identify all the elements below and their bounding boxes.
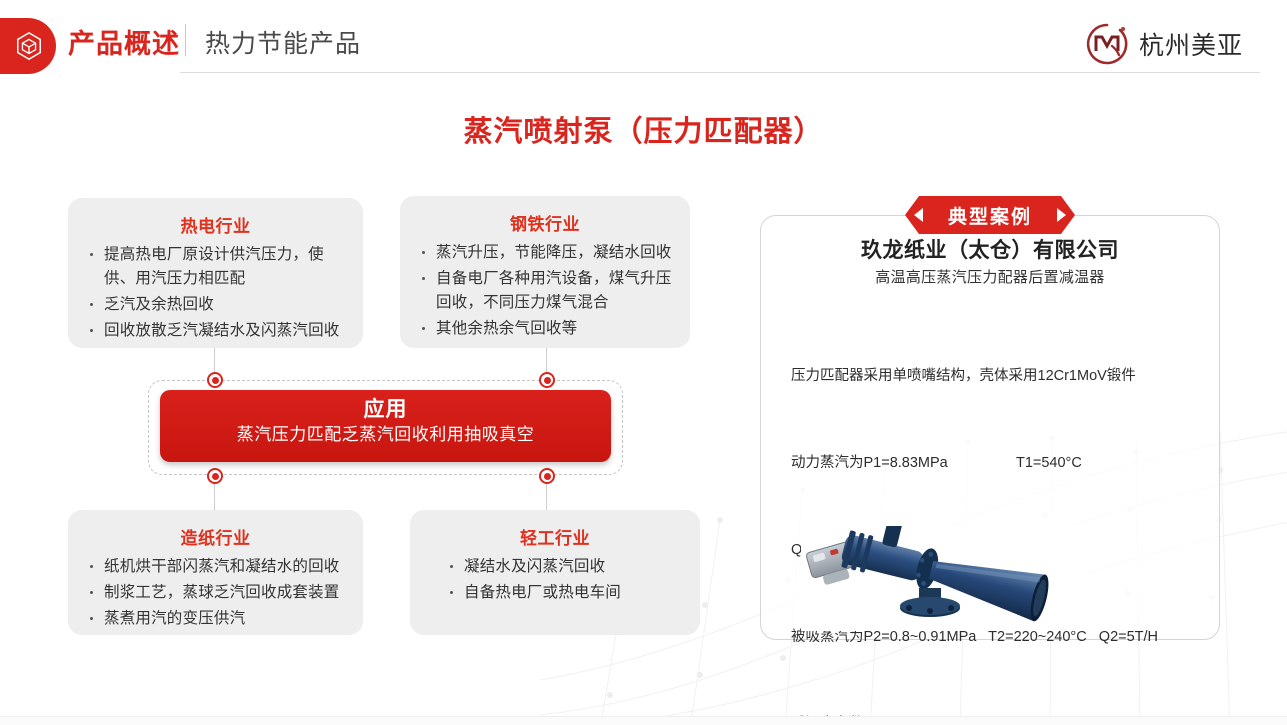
list-item: 乏汽及余热回收	[86, 293, 345, 317]
cube-hexagon-icon	[14, 31, 44, 61]
header-rule	[180, 72, 1260, 73]
steam-ejector-pump-illustration	[801, 526, 1086, 631]
connector-node-bottom-left	[207, 468, 223, 484]
page-subtitle: 热力节能产品	[205, 24, 361, 60]
list-item: 自备热电厂或热电车间	[428, 581, 682, 605]
spec-line: 动力蒸汽为P1=8.83MPa T1=540°C	[791, 449, 1191, 478]
slide-main-title: 蒸汽喷射泵（压力匹配器）	[0, 108, 1287, 150]
brand-logo: 杭州美亚	[1083, 20, 1243, 68]
list-item: 凝结水及闪蒸汽回收	[428, 555, 682, 579]
center-box-subtitle: 蒸汽压力匹配乏蒸汽回收利用抽吸真空	[160, 424, 611, 446]
slide-canvas: 产品概述 热力节能产品 杭州美亚 蒸汽喷射泵（压力匹配器） 应用	[0, 0, 1287, 725]
card-item-list: 纸机烘干部闪蒸汽和凝结水的回收 制浆工艺，蒸球乏汽回收成套装置 蒸煮用汽的变压供…	[86, 555, 345, 631]
list-item: 提高热电厂原设计供汽压力，使供、用汽压力相匹配	[86, 243, 345, 291]
industry-card-papermaking: 造纸行业 纸机烘干部闪蒸汽和凝结水的回收 制浆工艺，蒸球乏汽回收成套装置 蒸煮用…	[68, 510, 363, 635]
industry-card-thermal-power: 热电行业 提高热电厂原设计供汽压力，使供、用汽压力相匹配 乏汽及余热回收 回收放…	[68, 198, 363, 348]
card-item-list: 蒸汽升压，节能降压，凝结水回收 自备电厂各种用汽设备，煤气升压回收，不同压力煤气…	[418, 241, 672, 341]
typical-case-panel: 玖龙纸业（太仓）有限公司 高温高压蒸汽压力配器后置减温器 压力匹配器采用单喷嘴结…	[760, 215, 1220, 640]
product-photo	[801, 526, 1086, 631]
list-item: 自备电厂各种用汽设备，煤气升压回收，不同压力煤气混合	[418, 267, 672, 315]
case-spec-block: 压力匹配器采用单喷嘴结构，壳体采用12Cr1MoV锻件 动力蒸汽为P1=8.83…	[791, 304, 1191, 725]
center-application-box: 应用 蒸汽压力匹配乏蒸汽回收利用抽吸真空	[160, 390, 611, 462]
chevron-left-icon	[914, 208, 923, 222]
application-diagram: 应用 蒸汽压力匹配乏蒸汽回收利用抽吸真空 热电行业 提高热电厂原设计供汽压力，使…	[60, 190, 720, 650]
meiya-m-logo-icon	[1083, 20, 1131, 68]
page-header: 产品概述 热力节能产品 杭州美亚	[0, 0, 1287, 84]
card-title: 钢铁行业	[418, 210, 672, 235]
list-item: 回收放散乏汽凝结水及闪蒸汽回收	[86, 319, 345, 343]
ribbon-label: 典型案例	[948, 202, 1032, 229]
typical-case-ribbon: 典型案例	[905, 196, 1075, 234]
list-item: 其他余热余气回收等	[418, 317, 672, 341]
case-subtitle: 高温高压蒸汽压力配器后置减温器	[761, 266, 1219, 287]
card-title: 热电行业	[86, 212, 345, 237]
bottom-strip	[0, 716, 1287, 725]
brand-name: 杭州美亚	[1139, 26, 1243, 62]
chevron-right-icon	[1057, 208, 1066, 222]
center-box-title: 应用	[160, 396, 611, 424]
industry-card-light-industry: 轻工行业 凝结水及闪蒸汽回收 自备热电厂或热电车间	[410, 510, 700, 635]
list-item: 蒸汽升压，节能降压，凝结水回收	[418, 241, 672, 265]
card-title: 造纸行业	[86, 524, 345, 549]
connector-node-bottom-right	[539, 468, 555, 484]
list-item: 蒸煮用汽的变压供汽	[86, 607, 345, 631]
spec-line: 压力匹配器采用单喷嘴结构，壳体采用12Cr1MoV锻件	[791, 362, 1191, 391]
card-item-list: 提高热电厂原设计供汽压力，使供、用汽压力相匹配 乏汽及余热回收 回收放散乏汽凝结…	[86, 243, 345, 343]
header-badge	[0, 18, 56, 74]
list-item: 制浆工艺，蒸球乏汽回收成套装置	[86, 581, 345, 605]
case-company-name: 玖龙纸业（太仓）有限公司	[761, 234, 1219, 264]
card-item-list: 凝结水及闪蒸汽回收 自备热电厂或热电车间	[428, 555, 682, 605]
list-item: 纸机烘干部闪蒸汽和凝结水的回收	[86, 555, 345, 579]
industry-card-steel: 钢铁行业 蒸汽升压，节能降压，凝结水回收 自备电厂各种用汽设备，煤气升压回收，不…	[400, 196, 690, 348]
connector-node-top-left	[207, 372, 223, 388]
connector-node-top-right	[539, 372, 555, 388]
header-divider	[185, 24, 186, 56]
card-title: 轻工行业	[428, 524, 682, 549]
page-title: 产品概述	[68, 22, 180, 61]
